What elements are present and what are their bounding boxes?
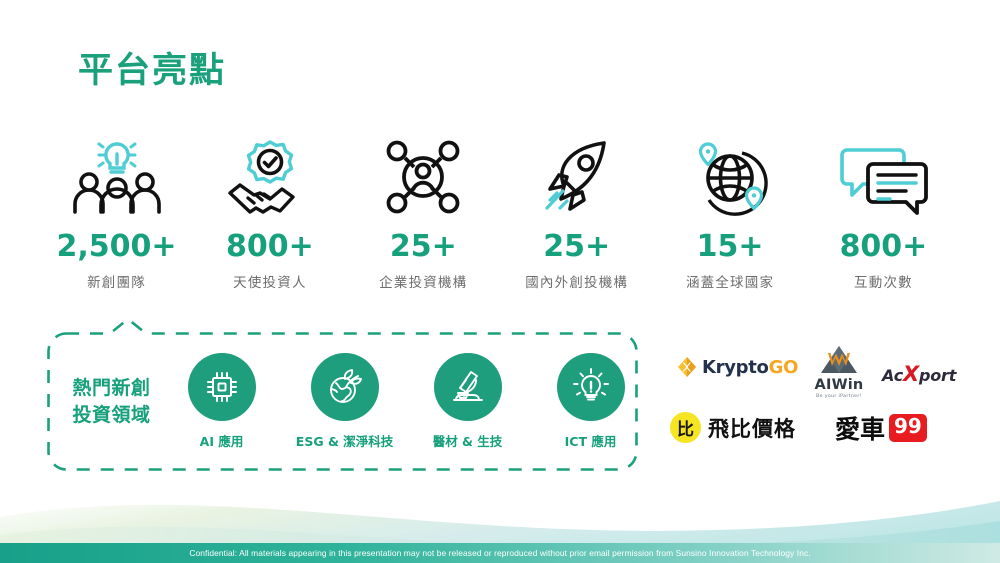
- logo-aiwin-tagline: Be your iPartner!: [800, 394, 878, 399]
- logo-aiwin-name: AIWin: [800, 377, 878, 393]
- chat-bubbles-icon: [833, 138, 933, 216]
- logo-aiche-name: 愛車: [835, 410, 885, 446]
- globe-pin-icon: [684, 138, 776, 216]
- category-item-biotech[interactable]: 醫材 & 生技: [421, 353, 514, 450]
- stat-value: 800+: [226, 232, 314, 262]
- category-circle: [188, 353, 256, 421]
- logo-acxport-part2: port: [919, 366, 956, 385]
- footer-text: Confidential: All materials appearing in…: [189, 548, 810, 558]
- logo-feibi-name: 飛比價格: [708, 413, 796, 443]
- logo-acxport-x: X: [903, 362, 919, 386]
- slide-root: 平台亮點: [0, 0, 1000, 563]
- stat-label: 涵蓋全球國家: [686, 271, 774, 291]
- stat-value: 15+: [697, 232, 764, 262]
- stat-item: 25+ 企業投資機構: [347, 138, 500, 291]
- partner-logos: KryptoGO AIWin Be your iPartner! AcXport…: [660, 340, 970, 480]
- lightbulb-icon: [570, 366, 612, 408]
- category-item-ict[interactable]: ICT 應用: [544, 353, 637, 450]
- stat-label: 天使投資人: [233, 271, 307, 291]
- handshake-badge-icon: [222, 138, 318, 216]
- footer-bar: Confidential: All materials appearing in…: [0, 543, 1000, 563]
- category-label: ESG & 潔淨科技: [296, 431, 393, 450]
- category-label: 醫材 & 生技: [433, 431, 503, 450]
- panel-label: 熱門新創 投資領域: [70, 375, 153, 427]
- stats-row: 2,500+ 新創團隊 800+ 天使投資人: [40, 138, 960, 308]
- microscope-icon: [447, 366, 489, 408]
- mountain-w-icon: [817, 344, 861, 374]
- stat-label: 企業投資機構: [379, 271, 467, 291]
- stat-value: 800+: [840, 232, 928, 262]
- globe-leaf-icon: [324, 366, 366, 408]
- logo-aiche-badge: 99: [889, 414, 927, 442]
- logo-kryptogo-part2: GO: [769, 357, 798, 378]
- category-label: AI 應用: [200, 431, 244, 450]
- panel-label-line2: 投資領域: [70, 402, 153, 428]
- panel-label-line1: 熱門新創: [70, 375, 153, 401]
- category-item-ai[interactable]: AI 應用: [175, 353, 268, 450]
- stat-label: 國內外創投機構: [525, 271, 628, 291]
- stat-item: 800+ 互動次數: [807, 138, 960, 291]
- logo-aiwin: AIWin Be your iPartner!: [800, 344, 878, 399]
- rocket-icon: [534, 138, 620, 216]
- stat-item: 2,500+ 新創團隊: [40, 138, 193, 291]
- stat-item: 15+ 涵蓋全球國家: [654, 138, 807, 291]
- category-item-esg[interactable]: ESG & 潔淨科技: [298, 353, 391, 450]
- stat-value: 25+: [543, 232, 610, 262]
- stat-value: 25+: [390, 232, 457, 262]
- logo-feibijiage: 比 飛比價格: [670, 412, 796, 443]
- stat-label: 互動次數: [854, 271, 913, 291]
- logo-kryptogo-part1: Krypto: [702, 357, 769, 378]
- logo-kryptogo-text: KryptoGO: [702, 357, 798, 378]
- network-user-icon: [380, 138, 466, 216]
- logo-feibi-mark: 比: [670, 412, 701, 443]
- logo-aiche99: 愛車 99: [835, 410, 927, 446]
- category-circle: [557, 353, 625, 421]
- category-circle: [434, 353, 502, 421]
- category-circle-list: AI 應用: [175, 353, 637, 450]
- category-label: ICT 應用: [565, 431, 617, 450]
- stat-item: 800+ 天使投資人: [193, 138, 346, 291]
- stat-value: 2,500+: [56, 232, 176, 262]
- page-title: 平台亮點: [78, 42, 226, 93]
- hot-sectors-panel: 熱門新創 投資領域: [48, 333, 637, 470]
- diamond-icon: [676, 356, 698, 378]
- chip-icon: [202, 367, 242, 407]
- category-circle: [311, 353, 379, 421]
- logo-acxport: AcXport: [882, 362, 956, 386]
- stat-item: 25+ 國內外創投機構: [500, 138, 653, 291]
- team-lightbulb-icon: [69, 138, 165, 216]
- logo-acxport-part1: Ac: [882, 366, 903, 385]
- logo-kryptogo: KryptoGO: [676, 356, 798, 378]
- stat-label: 新創團隊: [87, 271, 146, 291]
